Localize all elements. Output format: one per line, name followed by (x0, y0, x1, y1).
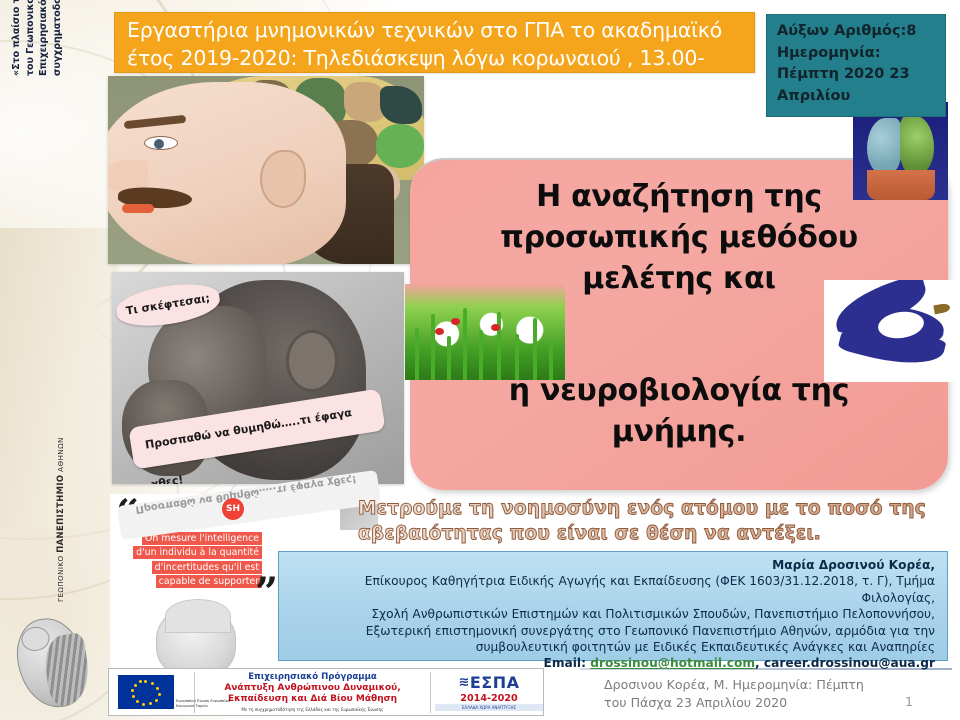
speaker-info-box: Μαρία Δροσινού Κορέα, Επίκουρος Καθηγήτρ… (278, 551, 948, 661)
easter-eggs-grass-image (405, 284, 565, 380)
head-mouth (122, 204, 154, 213)
espa-logo-block: ≋ΕΣΠΑ 2014-2020 ΕΛΛΑΔΑ ΧΩΡΑ ΑΝΑΠΤΥΞΗΣ (431, 674, 543, 711)
quote-body: On mesure l'intelligence d'un individu à… (122, 532, 262, 590)
meta-box: Αύξων Αριθμός:8 Ημερομηνία: Πέμπτη 2020 … (766, 14, 946, 117)
meta-date-line-1: Πέμπτη 2020 23 (777, 64, 937, 86)
speaker-affiliation-4: συμβουλευτική φοιτητών με Ειδικές Εκπαιδ… (291, 639, 935, 655)
quote-close-mark: ” (255, 578, 278, 608)
phrenology-head-image (108, 76, 424, 264)
university-logo: ΓΕΩΠΟΝΙΚΟ ΠΑΝΕΠΙΣΤΗΜΙΟ ΑΘΗΝΩΝ (16, 576, 108, 716)
email-label: Email: (544, 656, 586, 670)
meta-date-line-2: Απριλίου (777, 86, 937, 108)
slogan-text: Μετρούμε τη νοημοσύνη ενός ατόμου με το … (358, 496, 948, 546)
meta-date-label: Ημερομηνία: (777, 43, 937, 65)
footer-note: Δροσινου Κορέα, Μ. Ημερομηνία: Πέμπτη το… (604, 676, 904, 711)
swallow-beak (933, 303, 950, 315)
page-number: 1 (905, 694, 929, 709)
speaker-name: Μαρία Δροσινού Κορέα, (291, 557, 935, 573)
programme-line-1: Επιχειρησιακό Πρόγραμμα (199, 672, 426, 683)
slide-canvas: «Στο πλαίσιο της υλοποίησης της Πράξης «… (0, 0, 960, 720)
espa-funding-strip: Ευρωπαϊκή Ένωση Ευρωπαϊκό Κοινωνικό Ταμε… (108, 668, 544, 716)
espa-subtitle: ΕΛΛΑΔΑ ΧΩΡΑ ΑΝΑΠΤΥΞΗΣ (435, 704, 543, 711)
speaker-affiliation-1: Επίκουρος Καθηγήτρια Ειδικής Αγωγής και … (291, 573, 935, 606)
blue-swallow-image (824, 280, 956, 382)
eu-flag-icon (118, 675, 174, 709)
title-banner: Εργαστήρια μνημονικών τεχνικών στο ΓΠΑ τ… (114, 12, 755, 73)
slogan-line-2: αβεβαιότητας που είναι σε θέση να αντέξε… (358, 521, 948, 546)
espa-years: 2014-2020 (435, 693, 543, 704)
brain-plant-left-lobe (867, 118, 901, 174)
ladybug-icon (491, 324, 500, 331)
speaker-affiliation-2: Σχολή Ανθρωπιστικών Επιστημών και Πολιτι… (291, 606, 935, 622)
eu-flag-caption: Ευρωπαϊκή Ένωση Ευρωπαϊκό Κοινωνικό Ταμε… (176, 699, 242, 709)
philosopher-portrait (156, 606, 236, 676)
espa-swoosh-icon: ≋ (458, 674, 469, 691)
footer-note-line-2: του Πάσχα 23 Απριλίου 2020 (604, 694, 904, 712)
espa-logo-text: ≋ΕΣΠΑ (435, 674, 543, 693)
speaker-affiliation-3: Εξωτερική επιστημονική συνεργάτης στο Γε… (291, 623, 935, 639)
university-logo-text: ΓΕΩΠΟΝΙΚΟ ΠΑΝΕΠΙΣΤΗΜΙΟ ΑΘΗΝΩΝ (56, 510, 78, 602)
brain-plant-pot (867, 170, 935, 200)
main-statement-bottom: η νευροβιολογία της μνήμης. (450, 370, 908, 452)
head-pupil (154, 139, 164, 149)
main-statement-line-5: μνήμης. (450, 411, 908, 452)
brain-plant-right-lobe (900, 116, 934, 174)
quote-line-3: d'incertitudes qu'il est (152, 561, 262, 574)
brain-frog-icon (376, 124, 424, 168)
title-banner-line-1: Εργαστήρια μνημονικών τεχνικών στο ΓΠΑ τ… (127, 16, 744, 44)
main-statement-line-1: Η αναζήτηση της (450, 176, 908, 217)
email-link-hotmail[interactable]: drossinou@hotmail.com (590, 656, 755, 670)
university-line-top: ΓΕΩΠΟΝΙΚΟ (56, 555, 65, 602)
university-line-mid: ΠΑΝΕΠΙΣΤΗΜΙΟ (55, 475, 65, 553)
meta-serial-number: Αύξων Αριθμός:8 (777, 21, 937, 43)
quote-badge: SH (222, 498, 244, 520)
programme-line-2: Ανάπτυξη Ανθρώπινου Δυναμικού, (199, 683, 426, 695)
head-ear (260, 150, 306, 208)
ladybug-icon (451, 318, 460, 325)
thinking-monkey-image: Τι σκέφτεσαι; Προσπαθώ να θυμηθώ…..τι έφ… (112, 272, 404, 484)
owl-icon (12, 614, 90, 712)
footer-note-line-1: Δροσινου Κορέα, Μ. Ημερομηνία: Πέμπτη (604, 676, 904, 694)
email-secondary: , career.drossinou@aua.gr (755, 656, 935, 670)
brain-bird-icon (380, 86, 422, 124)
quote-line-2: d'un individu à la quantité (133, 546, 262, 559)
quote-line-4: capable de supporter (156, 575, 262, 588)
speaker-email-row: Email: drossinou@hotmail.com, career.dro… (291, 655, 935, 671)
slogan-line-1: Μετρούμε τη νοημοσύνη ενός ατόμου με το … (358, 496, 948, 521)
ladybug-icon (435, 328, 444, 335)
funding-note: «Στο πλαίσιο της υλοποίησης της Πράξης «… (6, 0, 68, 76)
main-statement-line-2: προσωπικής μεθόδου (450, 217, 908, 258)
monkey-ear (286, 330, 338, 392)
university-line-bottom: ΑΘΗΝΩΝ (56, 437, 65, 472)
